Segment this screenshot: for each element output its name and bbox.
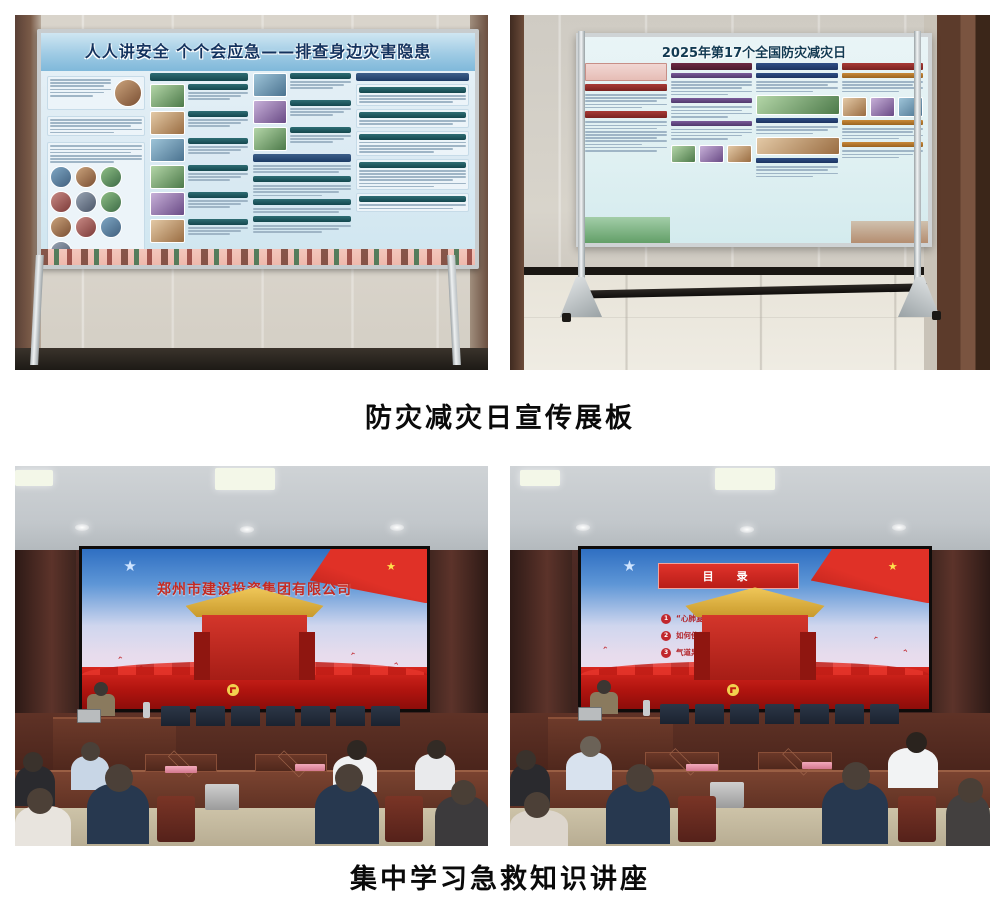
audience-person bbox=[87, 784, 149, 844]
section-card bbox=[356, 84, 469, 106]
stage-chair bbox=[371, 706, 400, 726]
board2-column-4 bbox=[842, 63, 924, 221]
audience-head bbox=[626, 764, 654, 792]
led-screen-1: ★ ★ 郑州市建设投资集团有限公司 急救知识讲座 2025年5月12日 ⌃ ⌃ … bbox=[79, 546, 430, 712]
board-column-2 bbox=[150, 73, 248, 249]
stage-chair bbox=[301, 706, 330, 726]
photo-disaster-day-board-stand: 2025年第17个全国防灾减灾日 bbox=[510, 15, 990, 370]
audience-person bbox=[566, 752, 612, 790]
board-2-title-text: 2025年第17个全国防灾减灾日 bbox=[580, 42, 928, 61]
audience-head bbox=[27, 788, 53, 814]
stage-chair bbox=[800, 704, 829, 724]
stage-chair bbox=[835, 704, 864, 724]
board-column-1 bbox=[47, 73, 145, 249]
board2-column-2 bbox=[671, 63, 753, 221]
led-screen-2: ★ ★ 目 录 1 “心肺复苏”怎么做？ 2 如何使用“救命神器”AED？ 3 … bbox=[578, 546, 932, 712]
board-bottom-decoration bbox=[41, 249, 475, 265]
section-card bbox=[356, 193, 469, 212]
photo-lecture-title-slide: ★ ★ 郑州市建设投资集团有限公司 急救知识讲座 2025年5月12日 ⌃ ⌃ … bbox=[15, 466, 488, 846]
stage-chair bbox=[231, 706, 260, 726]
section-card bbox=[47, 76, 145, 110]
figure-2-caption: 集中学习急救知识讲座 bbox=[0, 857, 1000, 896]
audience-chair bbox=[898, 796, 936, 842]
audience-head bbox=[516, 750, 536, 770]
caster-wheel bbox=[562, 313, 571, 322]
section-card-icons bbox=[47, 142, 145, 266]
board-green-decoration bbox=[580, 217, 670, 243]
laptop bbox=[77, 709, 101, 723]
audience-head bbox=[906, 732, 927, 753]
gate-body bbox=[202, 615, 307, 680]
audience-head bbox=[580, 736, 601, 757]
stage-chair bbox=[870, 704, 899, 724]
desk-surface bbox=[686, 764, 718, 771]
item-number: 3 bbox=[661, 648, 671, 658]
stage-chair bbox=[695, 704, 724, 724]
thermos-flask bbox=[143, 702, 150, 718]
gate-pillar bbox=[800, 632, 817, 680]
downlight-icon bbox=[892, 524, 906, 531]
item-number: 1 bbox=[661, 614, 671, 624]
hazard-icon bbox=[75, 166, 97, 188]
presenter-head bbox=[94, 682, 108, 696]
section-header bbox=[356, 73, 469, 81]
ceiling-light-panel bbox=[215, 468, 275, 490]
audience-person bbox=[888, 748, 938, 788]
stage-chair bbox=[730, 704, 759, 724]
gate-roof bbox=[186, 587, 324, 617]
flag-star-icon: ★ bbox=[386, 560, 396, 573]
board-columns bbox=[47, 73, 469, 249]
downlight-icon bbox=[240, 526, 254, 533]
board-title-text: 人人讲安全 个个会应急——排查身边灾害隐患 bbox=[41, 38, 475, 62]
section-card bbox=[47, 116, 145, 136]
board2-column-3 bbox=[756, 63, 838, 221]
audience-chair bbox=[157, 796, 195, 842]
hazard-icon bbox=[100, 166, 122, 188]
board-column-3 bbox=[253, 73, 351, 249]
section-header bbox=[253, 154, 351, 162]
ceiling-light-panel bbox=[715, 468, 775, 490]
section-card bbox=[356, 109, 469, 128]
board-2-columns bbox=[585, 63, 923, 221]
downlight-icon bbox=[576, 524, 590, 531]
board-column-4 bbox=[356, 73, 469, 249]
section-header bbox=[150, 73, 248, 81]
section-card bbox=[356, 159, 469, 191]
equipment-case bbox=[205, 784, 239, 810]
stage-chair bbox=[765, 704, 794, 724]
party-emblem-icon bbox=[227, 684, 239, 696]
contents-banner: 目 录 bbox=[658, 563, 799, 589]
audience-head bbox=[524, 792, 550, 818]
hazard-icon bbox=[100, 191, 122, 213]
figure-1-caption: 防灾减灾日宣传展板 bbox=[0, 396, 1000, 435]
audience-head bbox=[81, 742, 100, 761]
photo-lecture-contents-slide: ★ ★ 目 录 1 “心肺复苏”怎么做？ 2 如何使用“救命神器”AED？ 3 … bbox=[510, 466, 990, 846]
gate-pillar bbox=[694, 632, 711, 680]
ceiling-light-panel bbox=[15, 470, 53, 486]
audience-person bbox=[315, 784, 379, 844]
stage-chair bbox=[196, 706, 225, 726]
audience-head bbox=[958, 778, 983, 803]
stage-chair bbox=[161, 706, 190, 726]
section-card bbox=[356, 131, 469, 156]
stand-post-left bbox=[578, 31, 585, 303]
gate-pillar bbox=[194, 632, 211, 680]
audience-chair bbox=[678, 796, 716, 842]
downlight-icon bbox=[740, 526, 754, 533]
hazard-icon bbox=[100, 216, 122, 238]
display-board-2: 2025年第17个全国防灾减灾日 bbox=[576, 33, 932, 247]
star-icon: ★ bbox=[123, 559, 139, 575]
audience-head bbox=[451, 780, 476, 805]
gate-roof bbox=[685, 587, 824, 617]
audience-chair bbox=[385, 796, 423, 842]
tiananmen-graphic bbox=[685, 587, 824, 680]
audience-head bbox=[335, 764, 363, 792]
section-header bbox=[253, 216, 351, 222]
star-icon: ★ bbox=[623, 559, 639, 575]
caster-wheel bbox=[932, 311, 941, 320]
audience-head bbox=[347, 740, 367, 760]
left-door-edge bbox=[510, 15, 524, 370]
hazard-icon bbox=[50, 216, 72, 238]
section-header bbox=[253, 199, 351, 205]
downlight-icon bbox=[390, 524, 404, 531]
downlight-icon bbox=[75, 524, 89, 531]
desk-surface bbox=[802, 762, 832, 769]
desk-surface bbox=[165, 766, 197, 773]
item-number: 2 bbox=[661, 631, 671, 641]
laptop bbox=[578, 707, 602, 721]
photo-disaster-board-wall: 人人讲安全 个个会应急——排查身边灾害隐患 bbox=[15, 15, 488, 370]
floor-shadow bbox=[15, 348, 488, 370]
board2-column-1 bbox=[585, 63, 667, 221]
hazard-icon bbox=[75, 216, 97, 238]
audience-person bbox=[606, 784, 670, 844]
audience-person bbox=[415, 754, 455, 790]
gate-pillar bbox=[299, 632, 316, 680]
stage-chair bbox=[336, 706, 365, 726]
stand-post-right bbox=[914, 31, 921, 303]
audience-head bbox=[105, 764, 133, 792]
ceiling-light-panel bbox=[520, 470, 560, 486]
thermos-flask bbox=[643, 700, 650, 716]
audience-head bbox=[23, 752, 43, 772]
hazard-icon bbox=[50, 191, 72, 213]
presenter-head bbox=[597, 680, 611, 694]
gate-body bbox=[702, 615, 808, 680]
section-header bbox=[253, 176, 351, 182]
stage-chair bbox=[660, 704, 689, 724]
hazard-icon bbox=[75, 191, 97, 213]
report-page: 人人讲安全 个个会应急——排查身边灾害隐患 bbox=[0, 0, 1000, 912]
tiananmen-graphic bbox=[186, 587, 324, 680]
audience-head bbox=[427, 740, 446, 759]
stage-chair bbox=[266, 706, 295, 726]
hazard-icon bbox=[50, 166, 72, 188]
audience-head bbox=[842, 762, 870, 790]
display-board-1: 人人讲安全 个个会应急——排查身边灾害隐患 bbox=[37, 29, 479, 269]
bird-icon: ⌃ bbox=[115, 654, 125, 666]
desk-surface bbox=[295, 764, 325, 771]
flag-star-icon: ★ bbox=[888, 560, 898, 573]
audience-person bbox=[822, 782, 888, 844]
